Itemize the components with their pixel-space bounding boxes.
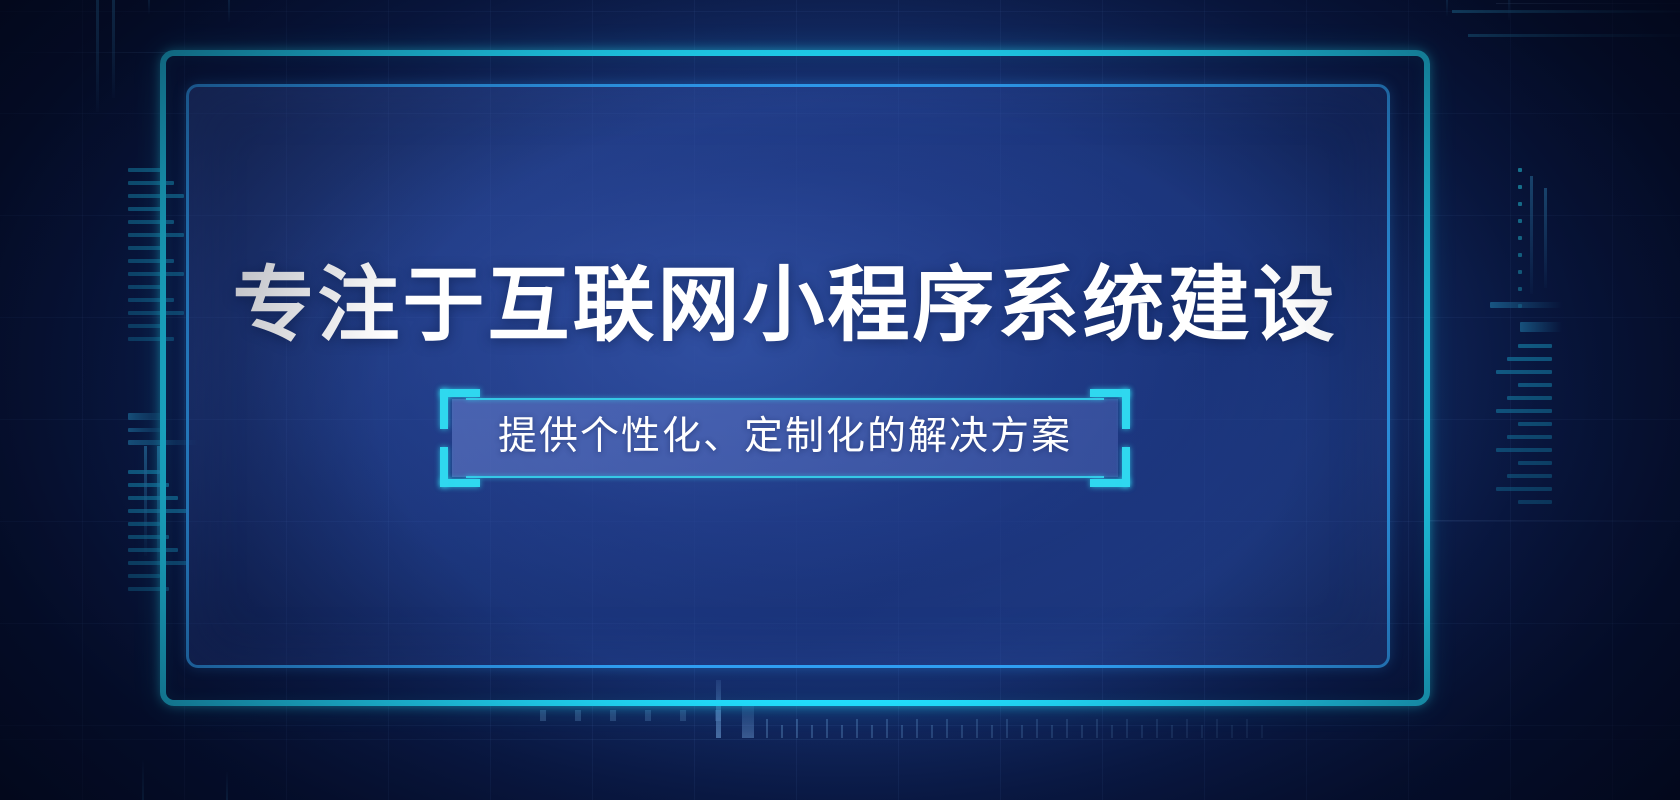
decor-square	[680, 710, 686, 721]
decor-comb-tick	[1141, 725, 1143, 738]
decor-tick	[1518, 461, 1552, 465]
decor-line-topright-2	[1468, 34, 1680, 37]
decor-line-topright-3	[1496, 3, 1680, 4]
decor-square	[610, 710, 616, 721]
decor-line-topright-1	[1452, 10, 1680, 13]
decor-tick	[1496, 448, 1552, 452]
decor-comb-tick	[1006, 719, 1008, 738]
decor-tick	[1518, 383, 1552, 387]
decor-comb-tick	[796, 719, 798, 738]
decor-tick	[1496, 409, 1552, 413]
corner-bracket-bottom-left-icon	[440, 447, 480, 487]
decor-dot	[1518, 185, 1522, 189]
decor-hbar-right-1	[1490, 302, 1562, 308]
decor-square	[645, 710, 651, 721]
decor-dot	[1518, 202, 1522, 206]
decor-comb-tick	[1066, 719, 1068, 738]
decor-comb-tick	[1051, 725, 1053, 738]
decor-comb-tick	[961, 725, 963, 738]
banner-headline: 专注于互联网小程序系统建设	[232, 265, 1337, 347]
decor-vbar-topleft-d	[228, 0, 230, 22]
decor-vbar-topleft-b	[112, 0, 115, 98]
banner-subtitle-plate: 提供个性化、定制化的解决方案	[452, 399, 1118, 478]
decor-comb-tick	[1231, 725, 1233, 738]
decor-tick	[128, 574, 160, 578]
subtitle-rail-top	[466, 398, 1104, 400]
decor-comb-tick	[1081, 725, 1083, 738]
decor-comb-tick	[826, 719, 828, 738]
decor-comb-tick	[781, 725, 783, 738]
decor-comb-tick	[1246, 719, 1248, 738]
decor-vbar-topright-a	[1446, 0, 1448, 16]
decor-tick	[1496, 370, 1552, 374]
decor-vbar-topright-b	[1508, 0, 1510, 20]
decor-dot-column-right	[1518, 168, 1522, 308]
decor-comb-tick	[1096, 719, 1098, 738]
decor-tick	[1496, 487, 1552, 491]
decor-tick	[1507, 357, 1552, 361]
decor-tick	[128, 207, 164, 211]
decor-comb-tick	[1111, 725, 1113, 738]
decor-vbar-bottom-left-a	[142, 760, 144, 800]
corner-bracket-bottom-right-icon	[1090, 447, 1130, 487]
decor-line-right-mid	[1430, 520, 1680, 521]
decor-comb-tick	[811, 725, 813, 738]
decor-vbar-right-b	[1544, 188, 1547, 288]
corner-bracket-top-right-icon	[1090, 389, 1130, 429]
decor-comb-tick	[856, 719, 858, 738]
decor-comb-tick	[766, 719, 768, 738]
decor-comb-tick	[916, 719, 918, 738]
decor-tick-ladder-right	[1522, 344, 1552, 504]
decor-tick	[1507, 396, 1552, 400]
decor-comb-tick	[1216, 719, 1218, 738]
subtitle-rail-bottom	[466, 476, 1104, 478]
decor-dot	[1518, 236, 1522, 240]
decor-square	[540, 710, 546, 721]
decor-comb-tick	[1036, 719, 1038, 738]
decor-tick	[1507, 435, 1552, 439]
hero-banner: 专注于互联网小程序系统建设 提供个性化、定制化的解决方案	[0, 0, 1680, 800]
decor-comb-tick	[1201, 725, 1203, 738]
decor-comb-tick	[841, 725, 843, 738]
decor-dot	[1518, 168, 1522, 172]
decor-comb-tick	[991, 725, 993, 738]
decor-tick	[128, 246, 164, 250]
decor-comb-tick	[871, 725, 873, 738]
banner-content: 专注于互联网小程序系统建设 提供个性化、定制化的解决方案	[186, 84, 1384, 662]
banner-subtitle-wrapper: 提供个性化、定制化的解决方案	[452, 399, 1118, 478]
decor-line-bottom-1	[0, 739, 1680, 740]
decor-comb-tick	[901, 725, 903, 738]
decor-comb-tick	[1186, 719, 1188, 738]
decor-dot	[1518, 287, 1522, 291]
decor-tick	[1507, 474, 1552, 478]
decor-vbar-topleft-c	[148, 0, 150, 14]
decor-dot	[1518, 253, 1522, 257]
decor-comb-tick	[1021, 725, 1023, 738]
decor-tick-comb-bottom	[766, 718, 1263, 738]
decor-comb-tick	[886, 719, 888, 738]
decor-vbar-right-a	[1530, 176, 1533, 294]
decor-vbar-bottom-short	[742, 704, 754, 738]
decor-dot	[1518, 270, 1522, 274]
decor-comb-tick	[1171, 725, 1173, 738]
decor-comb-tick	[931, 725, 933, 738]
decor-comb-tick	[946, 719, 948, 738]
decor-comb-tick	[1156, 719, 1158, 738]
decor-hbar-right-2	[1520, 322, 1562, 332]
decor-tick	[1518, 344, 1552, 348]
decor-tick	[128, 168, 164, 172]
decor-tick	[1518, 500, 1552, 504]
decor-tick	[128, 285, 164, 289]
decor-comb-tick	[1261, 725, 1263, 738]
corner-bracket-top-left-icon	[440, 389, 480, 429]
decor-square-row-bottom	[540, 710, 721, 721]
decor-tick	[1518, 422, 1552, 426]
decor-vbar-topleft-a	[96, 0, 99, 112]
decor-comb-tick	[976, 719, 978, 738]
decor-square	[575, 710, 581, 721]
decor-tick	[128, 324, 164, 328]
decor-vbar-left-mid-a	[144, 446, 147, 556]
decor-vbar-bottom-left-b	[226, 772, 228, 800]
banner-subtitle-text: 提供个性化、定制化的解决方案	[498, 416, 1072, 459]
decor-dot	[1518, 219, 1522, 223]
decor-comb-tick	[1126, 719, 1128, 738]
